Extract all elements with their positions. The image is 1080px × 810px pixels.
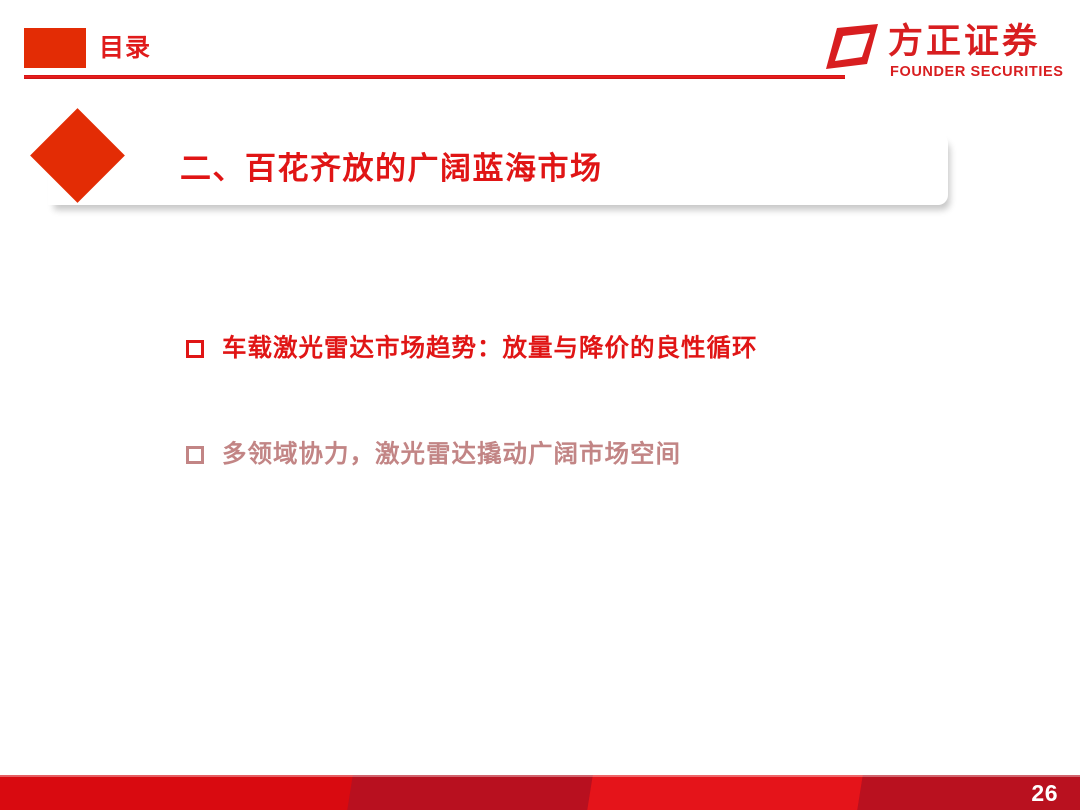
agenda-item-1[interactable]: 车载激光雷达市场趋势：放量与降价的良性循环 — [186, 322, 1006, 376]
agenda-item-2[interactable]: 多领域协力，激光雷达撬动广阔市场空间 — [186, 428, 1006, 482]
brand-name-cn: 方正证券 — [888, 20, 1040, 64]
header-divider — [24, 75, 845, 79]
footer-top-highlight — [0, 775, 1080, 777]
header-accent-block — [24, 28, 86, 68]
footer-bar: 26 — [0, 775, 1080, 810]
footer-segment — [586, 775, 864, 810]
page-title: 目录 — [99, 30, 151, 66]
founder-securities-logo-mark-icon — [826, 24, 878, 72]
section-title: 二、百花齐放的广阔蓝海市场 — [180, 146, 603, 192]
slide-canvas: 目录 方正证券 FOUNDER SECURITIES 二、百花齐放的广阔蓝海市场… — [0, 0, 1080, 810]
square-bullet-icon — [186, 340, 204, 358]
footer-segment — [0, 775, 354, 810]
brand-logo: 方正证券 FOUNDER SECURITIES — [826, 22, 1058, 84]
square-bullet-icon — [186, 446, 204, 464]
agenda-item-2-label: 多领域协力，激光雷达撬动广阔市场空间 — [222, 438, 681, 472]
agenda-item-1-label: 车载激光雷达市场趋势：放量与降价的良性循环 — [222, 332, 758, 366]
page-number: 26 — [1031, 779, 1058, 807]
brand-name-en: FOUNDER SECURITIES — [890, 64, 1064, 80]
agenda-list: 车载激光雷达市场趋势：放量与降价的良性循环 多领域协力，激光雷达撬动广阔市场空间 — [186, 322, 1006, 534]
footer-segment — [346, 775, 594, 810]
